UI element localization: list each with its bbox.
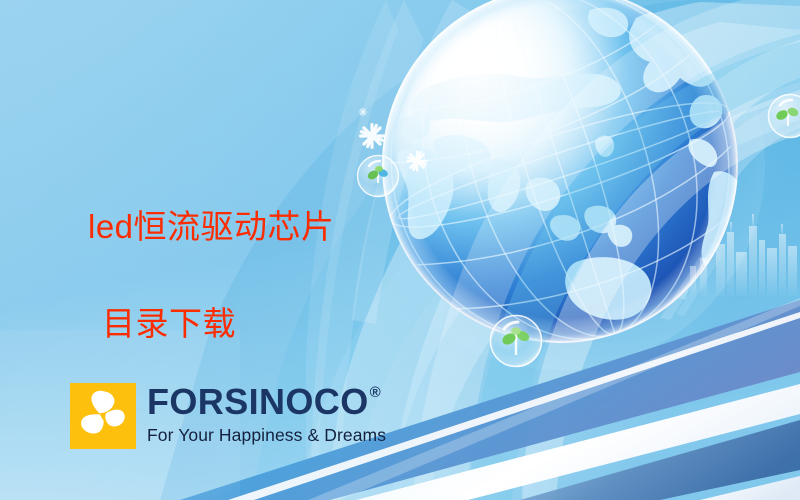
brand-tagline: For Your Happiness & Dreams — [147, 427, 386, 445]
registered-trademark-icon: ® — [370, 385, 381, 400]
brand-name: FORSINOCO — [147, 384, 369, 420]
promotional-banner: led恒流驱动芯片 目录下载 FORSINOCO® For Your Happi… — [0, 0, 800, 500]
headline-line-1: led恒流驱动芯片 — [88, 205, 335, 249]
headline-line-2: 目录下载 — [88, 302, 335, 346]
brand-text-block: FORSINOCO® For Your Happiness & Dreams — [147, 383, 386, 445]
headline-text: led恒流驱动芯片 目录下载 — [88, 163, 335, 388]
brand-logo-lockup[interactable]: FORSINOCO® For Your Happiness & Dreams — [70, 383, 386, 449]
brand-wordmark: FORSINOCO® — [147, 384, 386, 420]
four-petal-pinwheel-icon — [70, 383, 136, 449]
